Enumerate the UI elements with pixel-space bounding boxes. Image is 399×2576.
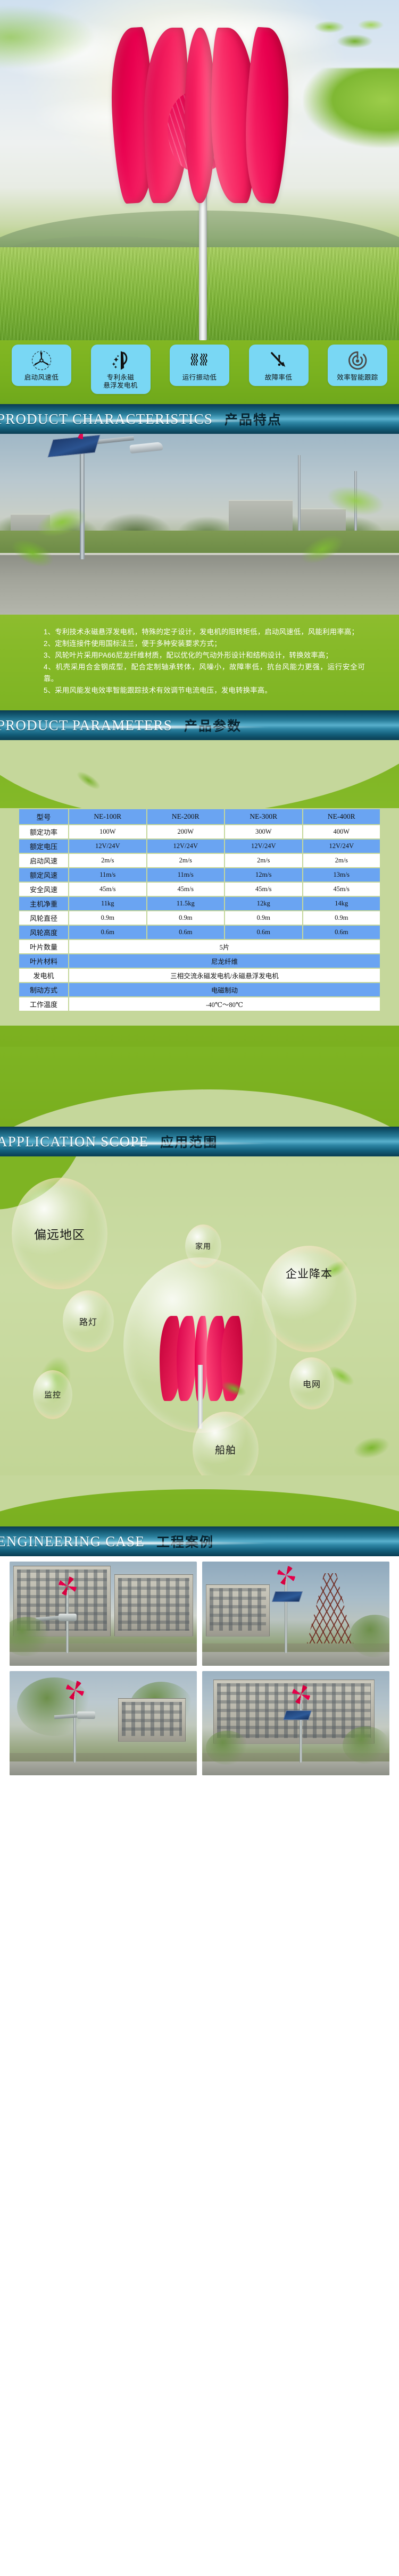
- table-cell: 45m/s: [147, 883, 225, 896]
- table-cell: 100W: [69, 825, 146, 838]
- bubble-label: 路灯: [79, 1315, 97, 1328]
- section-header-application-scope: APPLICATION SCOPE 应用范围: [0, 1127, 399, 1156]
- section-header-engineering-case: ENGINEERING CASE 工程案例: [0, 1526, 399, 1556]
- feature-card-patent-maglev-generator[interactable]: 专利永磁 悬浮发电机: [91, 345, 151, 394]
- bubble-label: 偏远地区: [34, 1224, 85, 1243]
- bubble-surveillance[interactable]: 监控: [33, 1370, 72, 1419]
- feature-card-low-vibration[interactable]: 运行振动低: [170, 345, 229, 386]
- bullet-item: 1、专利技术永磁悬浮发电机，特殊的定子设计，发电机的阻转矩低，启动风速低，风能利…: [44, 626, 365, 638]
- vibration-wave-icon: [187, 349, 212, 372]
- bullet-item: 3、风轮叶片采用PA66尼龙纤维材质，配以优化的气动外形设计和结构设计，转换效率…: [44, 650, 365, 661]
- table-row: 叶片材料尼龙纤维: [19, 954, 380, 968]
- table-row-key: 安全风速: [19, 883, 68, 896]
- parameters-body: 型号NE-100RNE-200RNE-300RNE-400R额定功率100W20…: [0, 740, 399, 1047]
- bubble-label: 家用: [195, 1241, 211, 1252]
- bubble-enterprise-cost-reduction[interactable]: 企业降本: [262, 1246, 356, 1352]
- table-row: 风轮高度0.6m0.6m0.6m0.6m: [19, 926, 380, 939]
- case-photo-harbour-tower[interactable]: [202, 1562, 389, 1666]
- green-curve-divider: [0, 740, 399, 808]
- hero-product-photo: [0, 0, 399, 340]
- spec-table: 型号NE-100RNE-200RNE-300RNE-400R额定功率100W20…: [18, 808, 381, 1012]
- red-vertical-axis-turbine: [93, 28, 306, 203]
- bullet-item: 2、定制连接件使用国标法兰，便于多种安装要求方式；: [44, 638, 365, 650]
- case-photo-office-building[interactable]: [202, 1671, 389, 1775]
- table-row: 叶片数量5片: [19, 940, 380, 953]
- leaf-decoration: [64, 757, 122, 808]
- feature-label: 运行振动低: [182, 374, 217, 382]
- table-row: 额定风速11m/s11m/s12m/s13m/s: [19, 868, 380, 882]
- fault-down-arrow-icon: [267, 349, 291, 372]
- table-cell: 13m/s: [303, 868, 380, 882]
- table-cell-merged: 5片: [69, 940, 380, 953]
- table-cell: 12kg: [225, 897, 302, 910]
- engineering-case-gallery: [0, 1556, 399, 1793]
- section-header-product-characteristics: PRODUCT CHARACTERISTICS 产品特点: [0, 404, 399, 434]
- table-cell: 12V/24V: [147, 840, 225, 853]
- table-cell: 2m/s: [147, 854, 225, 867]
- tower-structure: [305, 1573, 356, 1653]
- characteristics-bullet-list: 1、专利技术永磁悬浮发电机，特殊的定子设计，发电机的阻转矩低，启动风速低，风能利…: [0, 615, 399, 710]
- bubble-home-use[interactable]: 家用: [185, 1224, 221, 1268]
- table-cell: 12m/s: [225, 868, 302, 882]
- bubble-label: 船舶: [215, 1442, 236, 1457]
- leaf-decoration: [341, 1415, 399, 1475]
- leaf-decoration: [0, 5, 96, 69]
- table-row: 主机净重11kg11.5kg12kg14kg: [19, 897, 380, 910]
- table-row-key: 额定电压: [19, 840, 68, 853]
- table-cell: 0.9m: [147, 911, 225, 925]
- table-cell: 0.6m: [303, 926, 380, 939]
- table-header-model: NE-200R: [147, 809, 225, 824]
- turbine-rotor: [59, 1576, 77, 1596]
- table-row-key: 风轮直径: [19, 911, 68, 925]
- table-header-model: NE-400R: [303, 809, 380, 824]
- table-row: 发电机三相交流永磁发电机/永磁悬浮发电机: [19, 969, 380, 982]
- table-header-key: 型号: [19, 809, 68, 824]
- leaf-decoration: [305, 12, 385, 63]
- bubble-remote-area[interactable]: 偏远地区: [12, 1178, 107, 1289]
- table-cell: 0.9m: [303, 911, 380, 925]
- turbine-rotor: [292, 1685, 310, 1704]
- table-cell: 11.5kg: [147, 897, 225, 910]
- bar-glow: [24, 725, 271, 729]
- efficiency-target-icon: [345, 349, 370, 372]
- feature-card-low-failure-rate[interactable]: 故障率低: [249, 345, 309, 386]
- product-detail-page: 启动风速低 专利永磁 悬浮发电机: [0, 0, 399, 1793]
- application-streetlight-photo: [0, 434, 399, 615]
- feature-card-smart-efficiency-tracking[interactable]: 效率智能跟踪: [328, 345, 387, 386]
- case-row: [10, 1562, 389, 1666]
- table-cell: 2m/s: [69, 854, 146, 867]
- table-cell: 2m/s: [225, 854, 302, 867]
- table-row-key: 叶片材料: [19, 954, 68, 968]
- table-header-model: NE-100R: [69, 809, 146, 824]
- table-cell: 0.6m: [147, 926, 225, 939]
- table-row: 额定功率100W200W300W400W: [19, 825, 380, 838]
- streetlight-pole: [80, 438, 85, 559]
- table-cell: 11kg: [69, 897, 146, 910]
- bubble-label: 企业降本: [286, 1265, 332, 1281]
- table-cell: 45m/s: [303, 883, 380, 896]
- table-cell-merged: -40℃～80℃: [69, 997, 380, 1011]
- feature-card-startup-wind-speed[interactable]: 启动风速低: [12, 345, 71, 386]
- bubble-label: 监控: [44, 1389, 61, 1400]
- solar-panel: [47, 435, 100, 458]
- application-green-gap: [0, 1047, 399, 1127]
- feature-label: 启动风速低: [24, 374, 59, 382]
- leaf-decoration: [303, 68, 399, 148]
- table-header-model: NE-300R: [225, 809, 302, 824]
- table-cell: 45m/s: [225, 883, 302, 896]
- table-header-row: 型号NE-100RNE-200RNE-300RNE-400R: [19, 809, 380, 824]
- table-cell: 12V/24V: [69, 840, 146, 853]
- table-cell: 0.6m: [225, 926, 302, 939]
- bullet-item: 4、机壳采用合金钢成型，配合定制轴承转体，风噪小，故障率低，抗台风能力更强，运行…: [44, 661, 365, 685]
- table-cell: 11m/s: [147, 868, 225, 882]
- section-header-product-parameters: PRODUCT PARAMETERS 产品参数: [0, 710, 399, 740]
- application-bubble-diagram: 偏远地区 家用 企业降本 路灯 监控 电网 船舶: [0, 1156, 399, 1475]
- table-row-key: 风轮高度: [19, 926, 68, 939]
- table-cell: 14kg: [303, 897, 380, 910]
- turbine-rotor: [66, 1681, 84, 1700]
- table-row: 启动风速2m/s2m/s2m/s2m/s: [19, 854, 380, 867]
- table-cell-merged: 尼龙纤维: [69, 954, 380, 968]
- table-cell: 300W: [225, 825, 302, 838]
- application-bottom-curve: [0, 1475, 399, 1526]
- table-row: 制动方式电磁制动: [19, 983, 380, 996]
- table-cell: 0.6m: [69, 926, 146, 939]
- wind-turbine-icon: [29, 349, 54, 372]
- table-row-key: 额定风速: [19, 868, 68, 882]
- table-row: 额定电压12V/24V12V/24V12V/24V12V/24V: [19, 840, 380, 853]
- table-cell: 11m/s: [69, 868, 146, 882]
- table-cell: 2m/s: [303, 854, 380, 867]
- table-cell: 12V/24V: [303, 840, 380, 853]
- feature-label: 效率智能跟踪: [337, 374, 378, 382]
- case-photo-residential-monitoring[interactable]: [10, 1562, 197, 1666]
- table-cell: 12V/24V: [225, 840, 302, 853]
- table-cell: 200W: [147, 825, 225, 838]
- bubble-label: 电网: [303, 1377, 321, 1390]
- table-cell: 400W: [303, 825, 380, 838]
- bar-glow: [24, 418, 271, 423]
- bullet-item: 5、采用风能发电效率智能跟踪技术有效调节电流电压，发电转换率高。: [44, 685, 365, 697]
- table-row: 风轮直径0.9m0.9m0.9m0.9m: [19, 911, 380, 925]
- table-cell: 45m/s: [69, 883, 146, 896]
- table-row: 安全风速45m/s45m/s45m/s45m/s: [19, 883, 380, 896]
- table-row: 工作温度-40℃～80℃: [19, 997, 380, 1011]
- table-row-key: 制动方式: [19, 983, 68, 996]
- case-row: [10, 1671, 389, 1775]
- feature-label: 专利永磁 悬浮发电机: [103, 374, 138, 390]
- bar-glow: [24, 1141, 271, 1146]
- table-row-key: 额定功率: [19, 825, 68, 838]
- street-lamp-head: [129, 442, 163, 454]
- table-cell: 0.9m: [69, 911, 146, 925]
- table-row-key: 主机净重: [19, 897, 68, 910]
- table-row-key: 发电机: [19, 969, 68, 982]
- table-row-key: 工作温度: [19, 997, 68, 1011]
- table-cell: 0.9m: [225, 911, 302, 925]
- feature-label: 故障率低: [265, 374, 293, 382]
- case-photo-intersection-monitoring[interactable]: [10, 1671, 197, 1775]
- bubble-power-grid[interactable]: 电网: [289, 1357, 334, 1409]
- table-cell-merged: 三相交流永磁发电机/永磁悬浮发电机: [69, 969, 380, 982]
- feature-icon-strip: 启动风速低 专利永磁 悬浮发电机: [0, 340, 399, 404]
- turbine-mast: [198, 1365, 203, 1429]
- table-row-key: 启动风速: [19, 854, 68, 867]
- table-cell-merged: 电磁制动: [69, 983, 380, 996]
- bar-glow: [24, 1541, 271, 1546]
- turbine-rotor: [277, 1566, 295, 1585]
- table-row-key: 叶片数量: [19, 940, 68, 953]
- patent-magnet-icon: [109, 349, 133, 372]
- bubble-street-lamp[interactable]: 路灯: [63, 1290, 114, 1352]
